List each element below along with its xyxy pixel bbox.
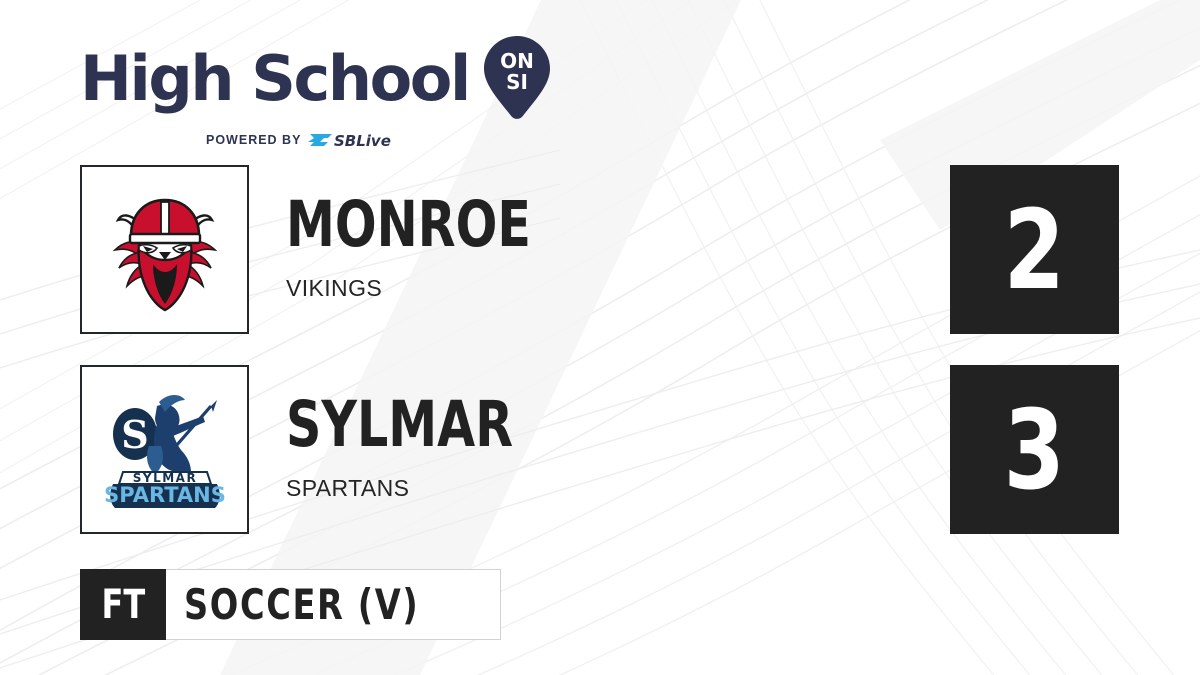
brand-wordmark: High School [80, 50, 469, 109]
pin-text-si: SI [506, 70, 528, 94]
status-sport-label: SOCCER (V) [184, 580, 419, 629]
powered-by-label: POWERED BY [206, 133, 301, 147]
team-name: MONROE [286, 193, 531, 256]
team-score-box: 2 [950, 165, 1119, 334]
team-score: 2 [1004, 195, 1065, 305]
brand-header: High School ON SI POWERED BY SBLive [80, 36, 553, 150]
status-period-label: FT [101, 582, 145, 628]
scoreboard-graphic: High School ON SI POWERED BY SBLive [0, 0, 1200, 675]
on-si-pin-icon: ON SI [481, 34, 553, 122]
team-name: SYLMAR [286, 393, 513, 456]
sblive-wordmark: SBLive [334, 132, 391, 150]
svg-text:SPARTANS: SPARTANS [104, 483, 226, 507]
status-period-badge: FT [80, 569, 166, 640]
team-mascot: VIKINGS [286, 275, 382, 302]
brand-logo-row: High School ON SI [80, 36, 553, 122]
sylmar-spartans-logo: S SYLMAR SPARTANS [99, 384, 231, 516]
team-score-box: 3 [950, 365, 1119, 534]
svg-text:S: S [121, 412, 148, 457]
status-sport-panel: SOCCER (V) [166, 569, 501, 640]
team-text-block: SYLMAR SPARTANS [286, 365, 886, 534]
team-logo-box: S SYLMAR SPARTANS [80, 365, 249, 534]
team-score: 3 [1004, 395, 1065, 505]
team-mascot: SPARTANS [286, 475, 409, 502]
powered-by-row: POWERED BY SBLive [80, 130, 553, 150]
team-logo-box [80, 165, 249, 334]
sblive-logo-icon: SBLive [308, 130, 404, 150]
team-text-block: MONROE VIKINGS [286, 165, 886, 334]
game-status-bar: FT SOCCER (V) [80, 569, 501, 640]
monroe-vikings-logo [99, 184, 231, 316]
